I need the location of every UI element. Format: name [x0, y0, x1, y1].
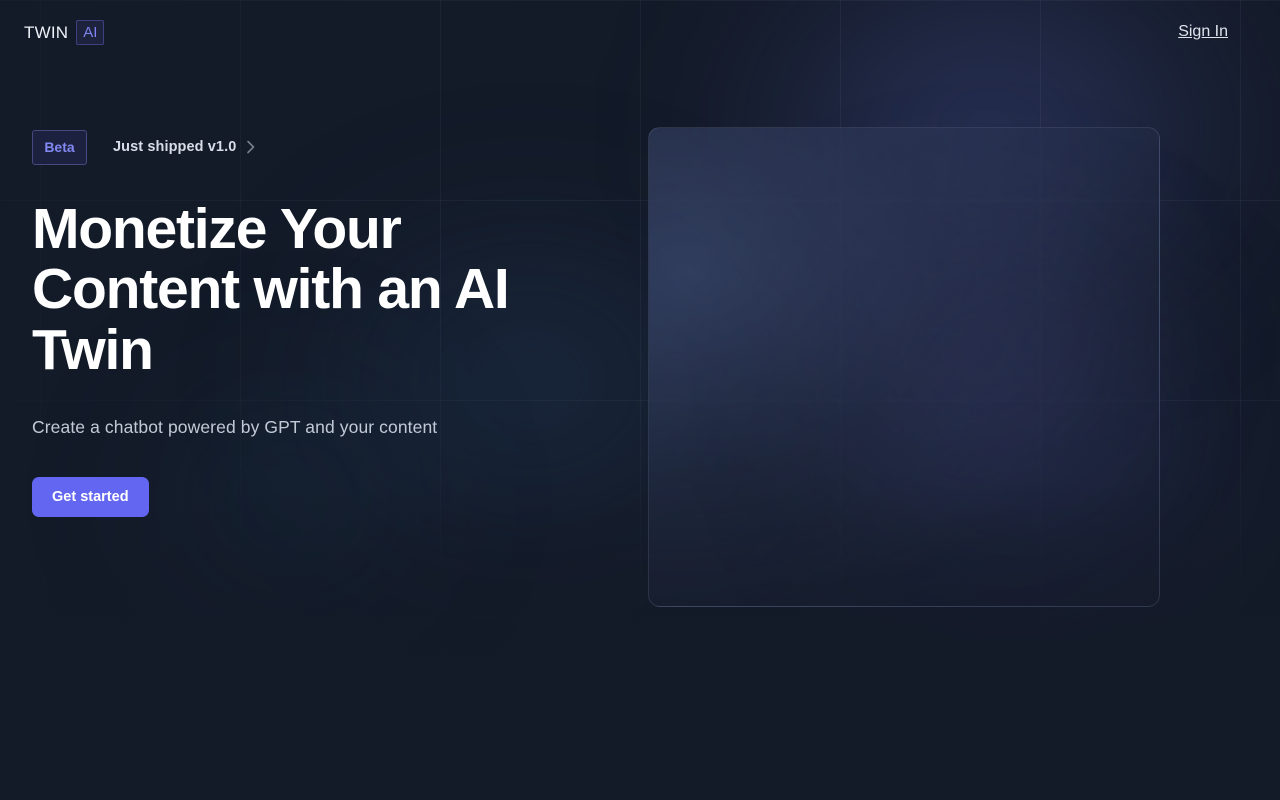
chevron-right-icon — [246, 140, 256, 154]
page-title: Monetize Your Content with an AI Twin — [32, 199, 592, 380]
product-preview-card[interactable] — [648, 127, 1160, 607]
brand-logo[interactable]: TWIN AI — [24, 20, 104, 45]
brand-wordmark: TWIN — [24, 24, 68, 41]
beta-badge: Beta — [32, 130, 87, 165]
get-started-button[interactable]: Get started — [32, 477, 149, 517]
announcement-label: Just shipped v1.0 — [113, 140, 236, 155]
site-header: TWIN AI Sign In — [0, 0, 1280, 64]
sign-in-link[interactable]: Sign In — [1178, 24, 1228, 40]
brand-ai-badge: AI — [76, 20, 104, 45]
landing-page: TWIN AI Sign In Beta Just shipped v1.0 M… — [0, 0, 1280, 800]
hero-subtitle: Create a chatbot powered by GPT and your… — [32, 416, 652, 439]
announcement-bar[interactable]: Beta Just shipped v1.0 — [32, 128, 652, 166]
hero-section: Beta Just shipped v1.0 Monetize Your Con… — [32, 128, 652, 517]
